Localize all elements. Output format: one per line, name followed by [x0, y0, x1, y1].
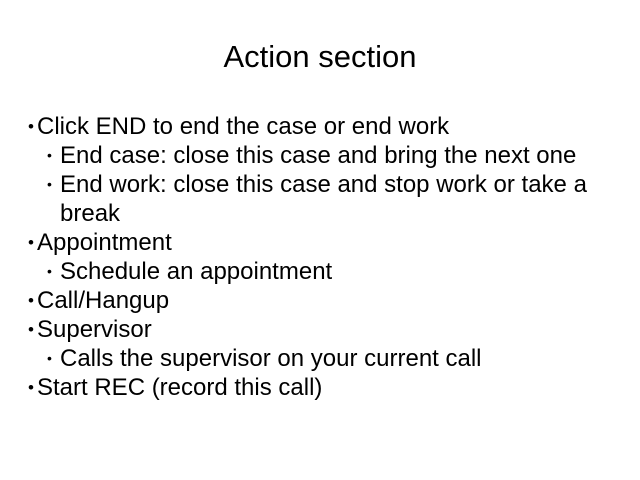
- bullet-dot-icon: •: [28, 112, 37, 141]
- bullet-dot-icon: •: [28, 373, 37, 402]
- list-item-label: Call/Hangup: [37, 286, 612, 315]
- list-item: • Calls the supervisor on your current c…: [28, 344, 612, 373]
- bullet-dot-icon: •: [47, 344, 60, 373]
- bullet-list: • Click END to end the case or end work …: [28, 112, 612, 402]
- list-item: • Start REC (record this call): [28, 373, 612, 402]
- list-item: • Call/Hangup: [28, 286, 612, 315]
- list-item-label: Click END to end the case or end work: [37, 112, 612, 141]
- list-item-label: Start REC (record this call): [37, 373, 612, 402]
- bullet-dot-icon: •: [47, 141, 60, 170]
- list-item: • End case: close this case and bring th…: [28, 141, 612, 170]
- bullet-dot-icon: •: [28, 286, 37, 315]
- list-item-label: Calls the supervisor on your current cal…: [60, 344, 612, 373]
- bullet-dot-icon: •: [28, 315, 37, 344]
- list-item: • Appointment: [28, 228, 612, 257]
- list-item-label: End work: close this case and stop work …: [60, 170, 612, 228]
- page-title: Action section: [0, 38, 640, 76]
- slide-canvas: Action section • Click END to end the ca…: [0, 0, 640, 480]
- list-item-label: Appointment: [37, 228, 612, 257]
- list-item: • End work: close this case and stop wor…: [28, 170, 612, 228]
- bullet-dot-icon: •: [47, 257, 60, 286]
- list-item-label: Supervisor: [37, 315, 612, 344]
- list-item: • Click END to end the case or end work: [28, 112, 612, 141]
- bullet-dot-icon: •: [28, 228, 37, 257]
- list-item-label: End case: close this case and bring the …: [60, 141, 612, 170]
- list-item: • Supervisor: [28, 315, 612, 344]
- bullet-dot-icon: •: [47, 170, 60, 199]
- list-item-label: Schedule an appointment: [60, 257, 612, 286]
- list-item: • Schedule an appointment: [28, 257, 612, 286]
